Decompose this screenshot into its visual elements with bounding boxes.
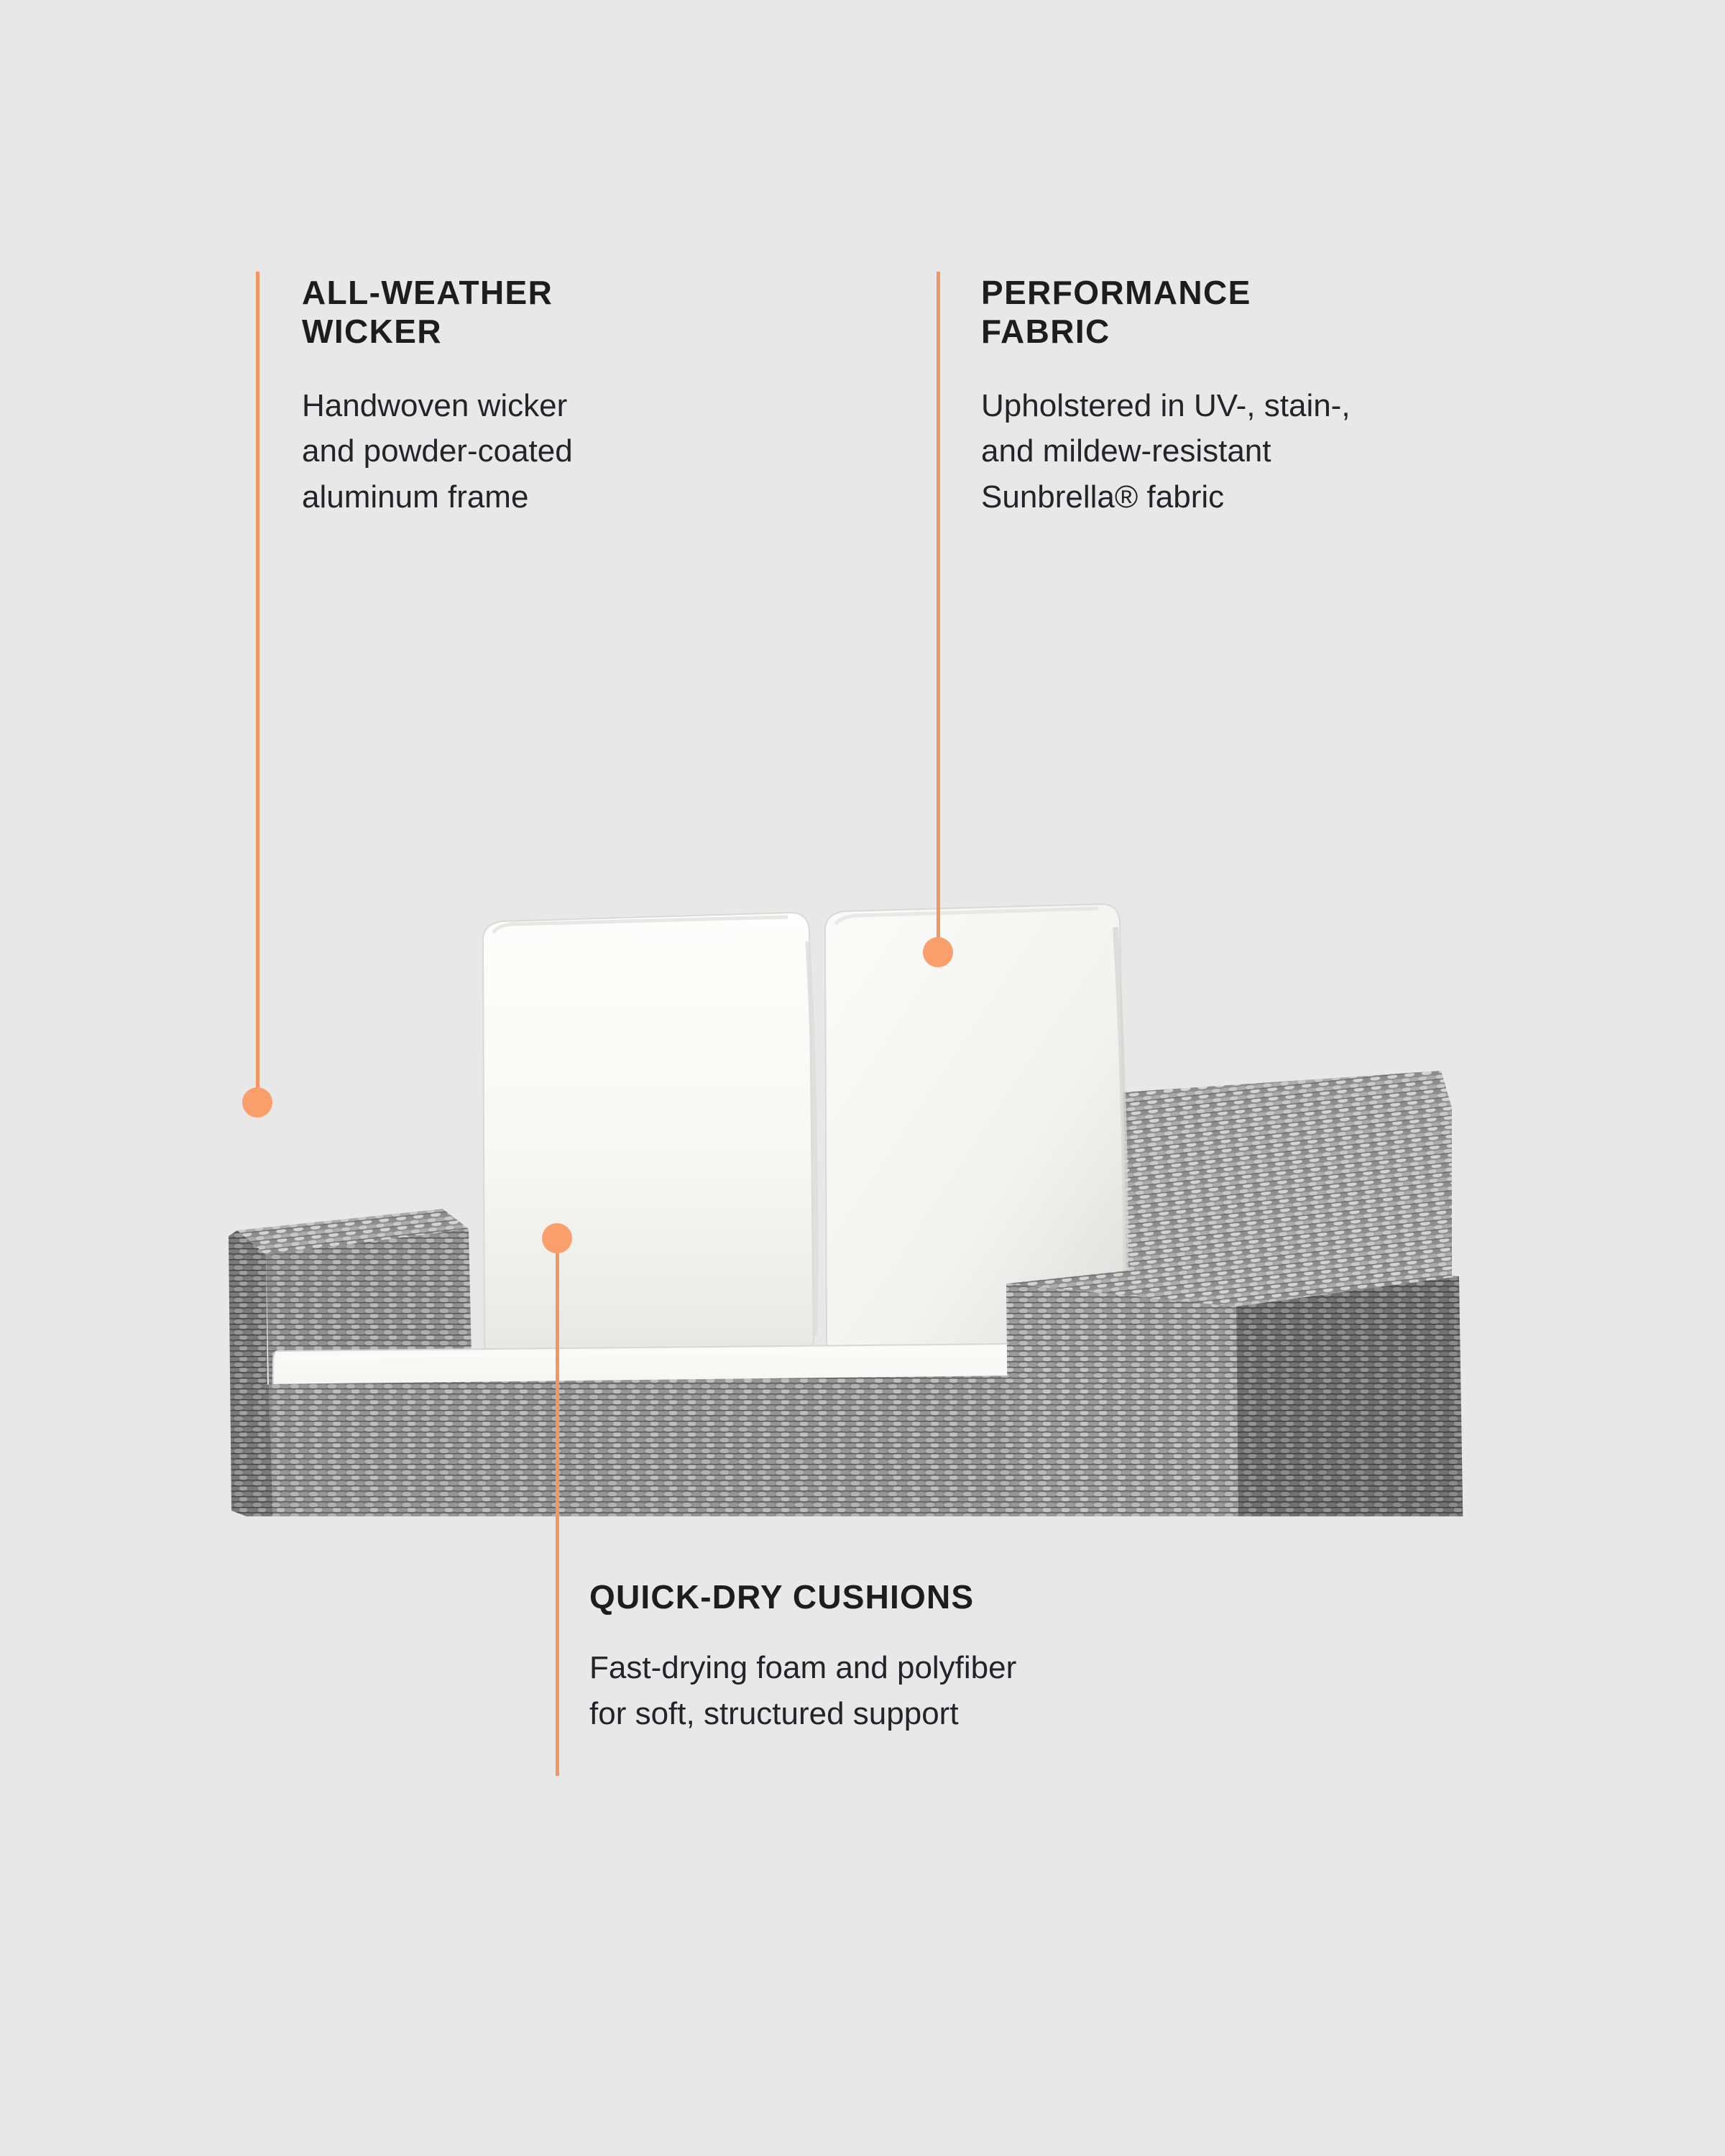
product-image-wicker-loveseat: [216, 855, 1509, 1516]
connector-dot-wicker: [242, 1087, 272, 1118]
back-cushion-left: [483, 913, 816, 1360]
callout-body-performance-fabric: Upholstered in UV-, stain-, and mildew-r…: [981, 383, 1470, 520]
callout-quick-dry-cushions: QUICK-DRY CUSHIONS Fast-drying foam and …: [589, 1577, 1351, 1737]
callout-title-performance-fabric: PERFORMANCE FABRIC: [981, 273, 1470, 351]
sofa-right-arm: [1006, 1258, 1463, 1516]
callout-title-all-weather-wicker: ALL-WEATHER WICKER: [302, 273, 762, 351]
callout-all-weather-wicker: ALL-WEATHER WICKER Handwoven wicker and …: [302, 273, 762, 520]
connector-dot-cushions: [542, 1223, 572, 1253]
connector-line-cushions: [556, 1238, 559, 1776]
callout-body-quick-dry-cushions: Fast-drying foam and polyfiber for soft,…: [589, 1645, 1351, 1737]
callout-performance-fabric: PERFORMANCE FABRIC Upholstered in UV-, s…: [981, 273, 1470, 520]
connector-line-wicker: [256, 272, 259, 1105]
connector-line-fabric: [937, 272, 940, 956]
connector-dot-fabric: [923, 937, 953, 967]
sofa-base: [231, 1376, 1019, 1516]
infographic-canvas: ALL-WEATHER WICKER Handwoven wicker and …: [0, 0, 1725, 2156]
callout-title-quick-dry-cushions: QUICK-DRY CUSHIONS: [589, 1577, 1351, 1616]
callout-body-all-weather-wicker: Handwoven wicker and powder-coated alumi…: [302, 383, 762, 520]
